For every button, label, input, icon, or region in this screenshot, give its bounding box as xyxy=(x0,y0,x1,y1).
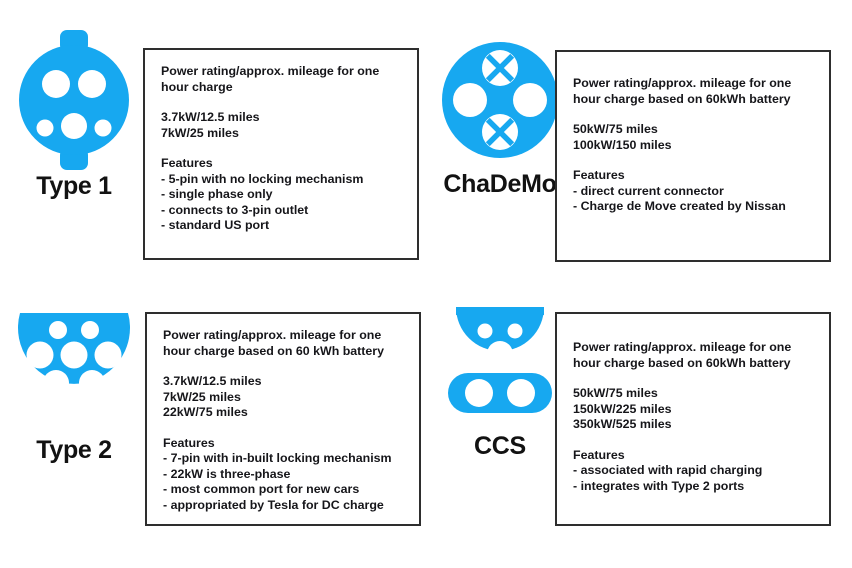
feature-item: - connects to 3-pin outlet xyxy=(161,203,401,219)
rating-item: 3.7kW/12.5 miles xyxy=(163,374,403,390)
heading-line: hour charge based on 60kWh battery xyxy=(573,356,813,372)
power-rating-heading-chademo: Power rating/approx. mileage for one hou… xyxy=(573,76,813,107)
feature-item: - most common port for new cars xyxy=(163,482,403,498)
heading-line: Power rating/approx. mileage for one xyxy=(163,328,403,344)
feature-item: - integrates with Type 2 ports xyxy=(573,479,813,495)
feature-item: - appropriated by Tesla for DC charge xyxy=(163,498,403,514)
connector-panel-chademo: ChaDeMo Power rating/approx. mileage for… xyxy=(426,30,852,284)
rating-item: 7kW/25 miles xyxy=(161,126,401,142)
heading-line: hour charge based on 60kWh battery xyxy=(573,92,813,108)
feature-item: - standard US port xyxy=(161,218,401,234)
connector-caption-type2: Type 2 xyxy=(36,438,112,463)
feature-item: - 7-pin with in-built locking mechanism xyxy=(163,451,403,467)
rating-item: 100kW/150 miles xyxy=(573,138,813,154)
heading-line: Power rating/approx. mileage for one xyxy=(573,340,813,356)
connector-caption-chademo: ChaDeMo xyxy=(443,172,556,197)
connector-info-box-type1: Power rating/approx. mileage for one hou… xyxy=(143,48,419,260)
type-2-connector-icon xyxy=(14,296,134,420)
heading-line: Power rating/approx. mileage for one xyxy=(573,76,813,92)
features-title: Features xyxy=(161,156,401,172)
connector-icon-column-type1: Type 1 xyxy=(8,30,140,246)
ev-connector-comparison-board: Type 1 Power rating/approx. mileage for … xyxy=(0,0,852,568)
ratings-list-ccs: 50kW/75 miles 150kW/225 miles 350kW/525 … xyxy=(573,386,813,433)
features-title: Features xyxy=(573,448,813,464)
feature-item: - 22kW is three-phase xyxy=(163,467,403,483)
feature-item: - single phase only xyxy=(161,187,401,203)
chademo-connector-icon xyxy=(440,30,560,170)
heading-line: hour charge xyxy=(161,80,401,96)
heading-line: Power rating/approx. mileage for one xyxy=(161,64,401,80)
features-title: Features xyxy=(573,168,813,184)
feature-item: - direct current connector xyxy=(573,184,813,200)
connector-info-box-ccs: Power rating/approx. mileage for one hou… xyxy=(555,312,831,526)
feature-item: - 5-pin with no locking mechanism xyxy=(161,172,401,188)
feature-item: - associated with rapid charging xyxy=(573,463,813,479)
power-rating-heading-type1: Power rating/approx. mileage for one hou… xyxy=(161,64,401,95)
connector-caption-type1: Type 1 xyxy=(36,174,112,199)
connector-panel-type2: Type 2 Power rating/approx. mileage for … xyxy=(0,296,426,550)
rating-item: 3.7kW/12.5 miles xyxy=(161,110,401,126)
rating-item: 50kW/75 miles xyxy=(573,122,813,138)
connector-panel-ccs: CCS Power rating/approx. mileage for one… xyxy=(426,296,852,550)
connector-info-box-chademo: Power rating/approx. mileage for one hou… xyxy=(555,50,831,262)
rating-item: 350kW/525 miles xyxy=(573,417,813,433)
features-list-chademo: Features - direct current connector - Ch… xyxy=(573,168,813,215)
connector-icon-column-chademo: ChaDeMo xyxy=(434,30,566,246)
connector-caption-ccs: CCS xyxy=(474,434,526,459)
features-list-ccs: Features - associated with rapid chargin… xyxy=(573,448,813,495)
connector-panel-type1: Type 1 Power rating/approx. mileage for … xyxy=(0,30,426,284)
heading-line: hour charge based on 60 kWh battery xyxy=(163,344,403,360)
ratings-list-type2: 3.7kW/12.5 miles 7kW/25 miles 22kW/75 mi… xyxy=(163,374,403,421)
connector-icon-column-type2: Type 2 xyxy=(8,296,140,512)
features-list-type1: Features - 5-pin with no locking mechani… xyxy=(161,156,401,234)
features-list-type2: Features - 7-pin with in-built locking m… xyxy=(163,436,403,514)
rating-item: 50kW/75 miles xyxy=(573,386,813,402)
rating-item: 150kW/225 miles xyxy=(573,402,813,418)
rating-item: 22kW/75 miles xyxy=(163,405,403,421)
rating-item: 7kW/25 miles xyxy=(163,390,403,406)
power-rating-heading-type2: Power rating/approx. mileage for one hou… xyxy=(163,328,403,359)
ratings-list-chademo: 50kW/75 miles 100kW/150 miles xyxy=(573,122,813,153)
feature-item: - Charge de Move created by Nissan xyxy=(573,199,813,215)
connector-icon-column-ccs: CCS xyxy=(434,296,566,512)
ccs-connector-icon xyxy=(440,296,560,420)
type-1-connector-icon xyxy=(14,30,134,170)
features-title: Features xyxy=(163,436,403,452)
connector-info-box-type2: Power rating/approx. mileage for one hou… xyxy=(145,312,421,526)
ratings-list-type1: 3.7kW/12.5 miles 7kW/25 miles xyxy=(161,110,401,141)
power-rating-heading-ccs: Power rating/approx. mileage for one hou… xyxy=(573,340,813,371)
